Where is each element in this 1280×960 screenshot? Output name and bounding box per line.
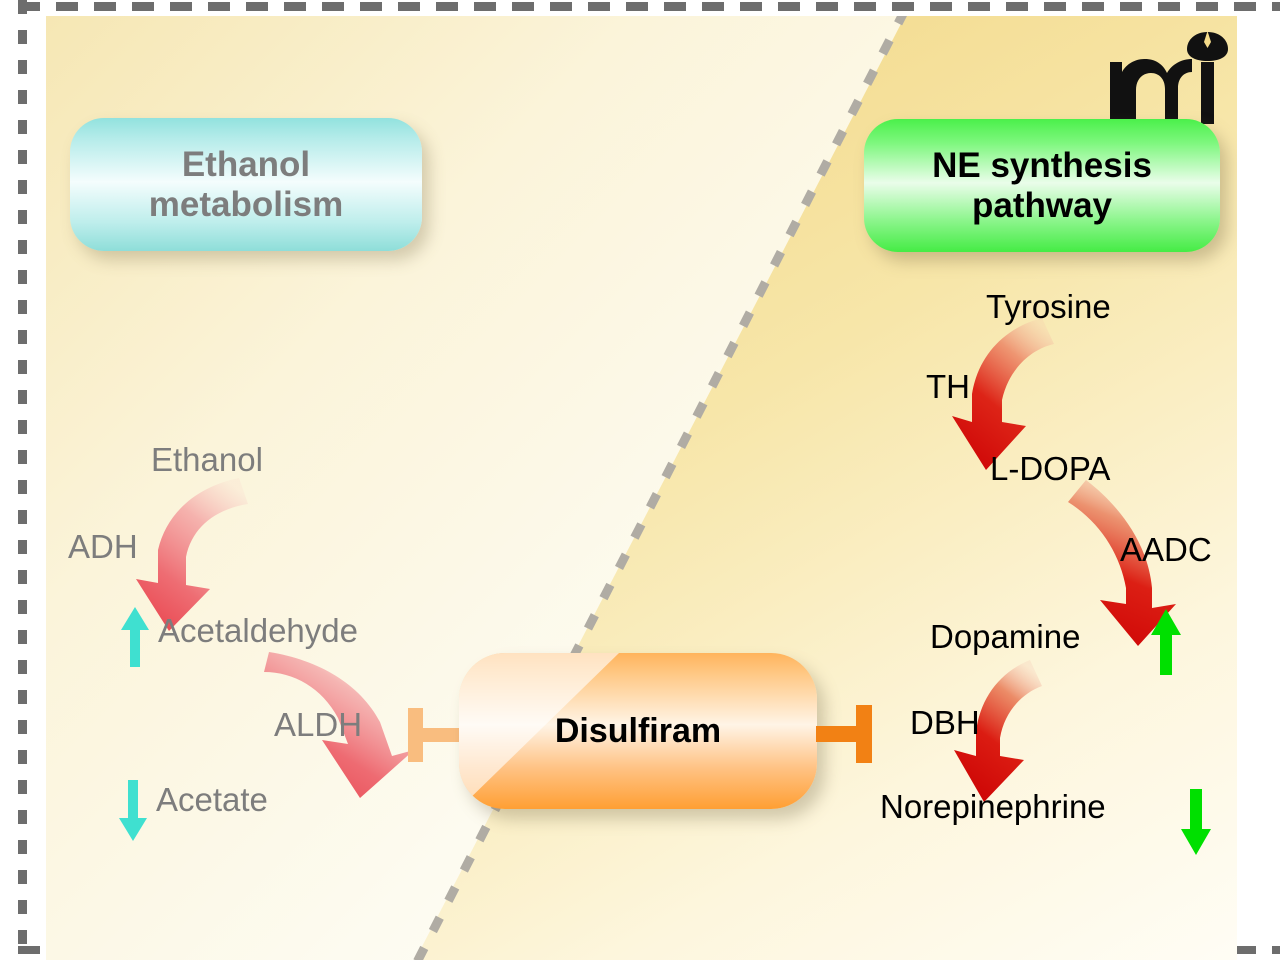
enzyme-label-aldh: ALDH <box>274 706 362 744</box>
panel-header-ne-label: NE synthesispathway <box>932 146 1152 224</box>
mi-logo <box>1106 28 1236 128</box>
figure-canvas: Ethanolmetabolism NE synthesispathway Et… <box>0 0 1280 960</box>
down-arrow-green-norepinephrine <box>1180 788 1212 856</box>
node-acetate: Acetate <box>156 781 268 819</box>
node-acetaldehyde: Acetaldehyde <box>158 612 358 650</box>
panel-header-ne-synthesis-pathway: NE synthesispathway <box>864 119 1220 252</box>
down-arrow-cyan-acetate <box>116 778 150 842</box>
up-arrow-cyan-acetaldehyde <box>118 606 152 668</box>
frame-dash-left <box>18 0 27 952</box>
enzyme-label-th: TH <box>926 368 970 406</box>
ethanol-header-line2: metabolism <box>149 185 344 224</box>
slide-area: Ethanolmetabolism NE synthesispathway Et… <box>46 16 1237 960</box>
node-norepinephrine: Norepinephrine <box>880 788 1106 826</box>
panel-header-ethanol-label: Ethanolmetabolism <box>149 145 344 223</box>
up-arrow-green-dopamine <box>1150 608 1182 676</box>
inhibition-bar-right <box>816 704 882 764</box>
node-dopamine: Dopamine <box>930 618 1080 656</box>
frame-dash-top <box>18 2 1280 11</box>
ne-header-line2: pathway <box>972 186 1112 225</box>
enzyme-label-dbh: DBH <box>910 704 980 742</box>
drug-box-disulfiram[interactable]: Disulfiram <box>459 653 817 809</box>
inhibition-bar-left <box>396 706 462 764</box>
ne-header-line1: NE synthesis <box>932 146 1152 185</box>
panel-header-ethanol-metabolism: Ethanolmetabolism <box>70 118 422 251</box>
enzyme-label-adh: ADH <box>68 528 138 566</box>
ethanol-header-line1: Ethanol <box>182 145 310 184</box>
disulfiram-label: Disulfiram <box>555 712 721 750</box>
enzyme-label-aadc: AADC <box>1120 531 1212 569</box>
